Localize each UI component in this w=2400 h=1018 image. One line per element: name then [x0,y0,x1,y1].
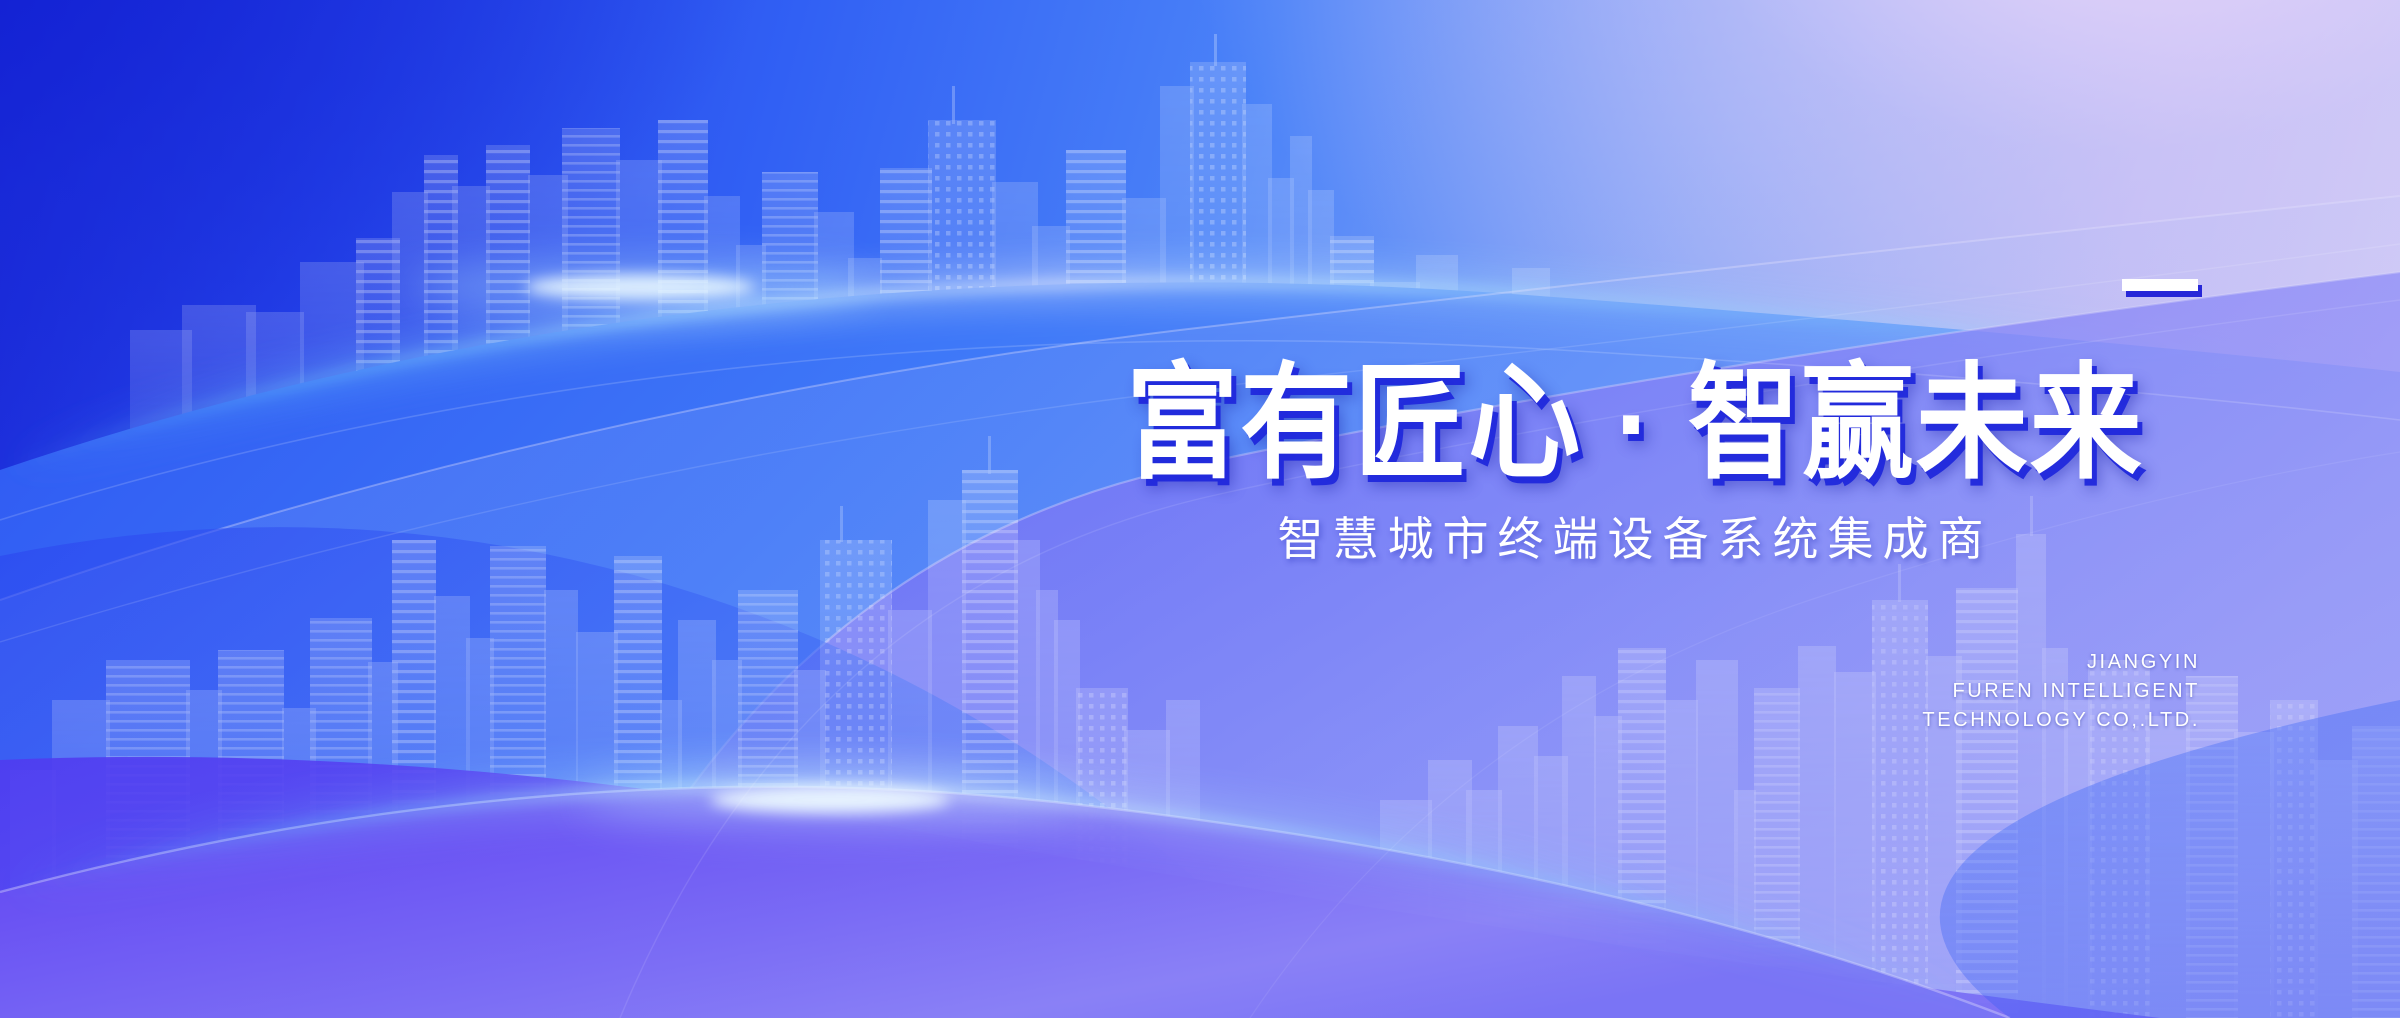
accent-dash-icon [2122,279,2198,291]
company-line-3: TECHNOLOGY CO,.LTD. [1922,706,2200,735]
page-subtitle: 智慧城市终端设备系统集成商 [1060,510,2210,568]
banner-canvas: 富有匠心 · 智赢未来 智慧城市终端设备系统集成商 JIANGYIN FUREN… [0,0,2400,1018]
banner-content: 富有匠心 · 智赢未来 智慧城市终端设备系统集成商 JIANGYIN FUREN… [0,0,2400,1018]
page-title: 富有匠心 · 智赢未来 [1060,358,2210,490]
company-name-block: JIANGYIN FUREN INTELLIGENT TECHNOLOGY CO… [1922,648,2200,735]
company-line-2: FUREN INTELLIGENT [1922,677,2200,706]
company-line-1: JIANGYIN [1922,648,2200,677]
